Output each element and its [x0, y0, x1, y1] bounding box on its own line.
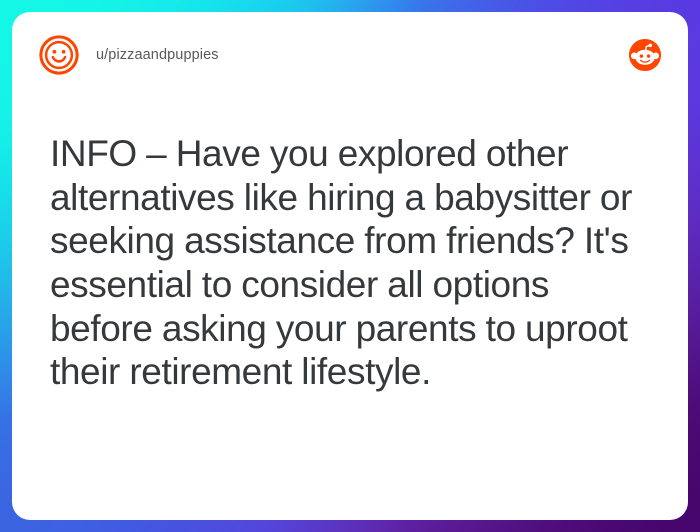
smiley-face-avatar-icon[interactable] — [38, 34, 80, 76]
username-label: u/pizzaandpuppies — [96, 47, 219, 63]
reddit-snoo-logo-icon[interactable] — [628, 38, 662, 72]
reddit-comment-card: u/pizzaandpuppies — [12, 12, 688, 520]
card-header: u/pizzaandpuppies — [12, 12, 688, 98]
gradient-backdrop: u/pizzaandpuppies — [0, 0, 700, 532]
card-body: INFO – Have you explored other alternati… — [12, 98, 688, 520]
comment-text: INFO – Have you explored other alternati… — [50, 132, 648, 394]
